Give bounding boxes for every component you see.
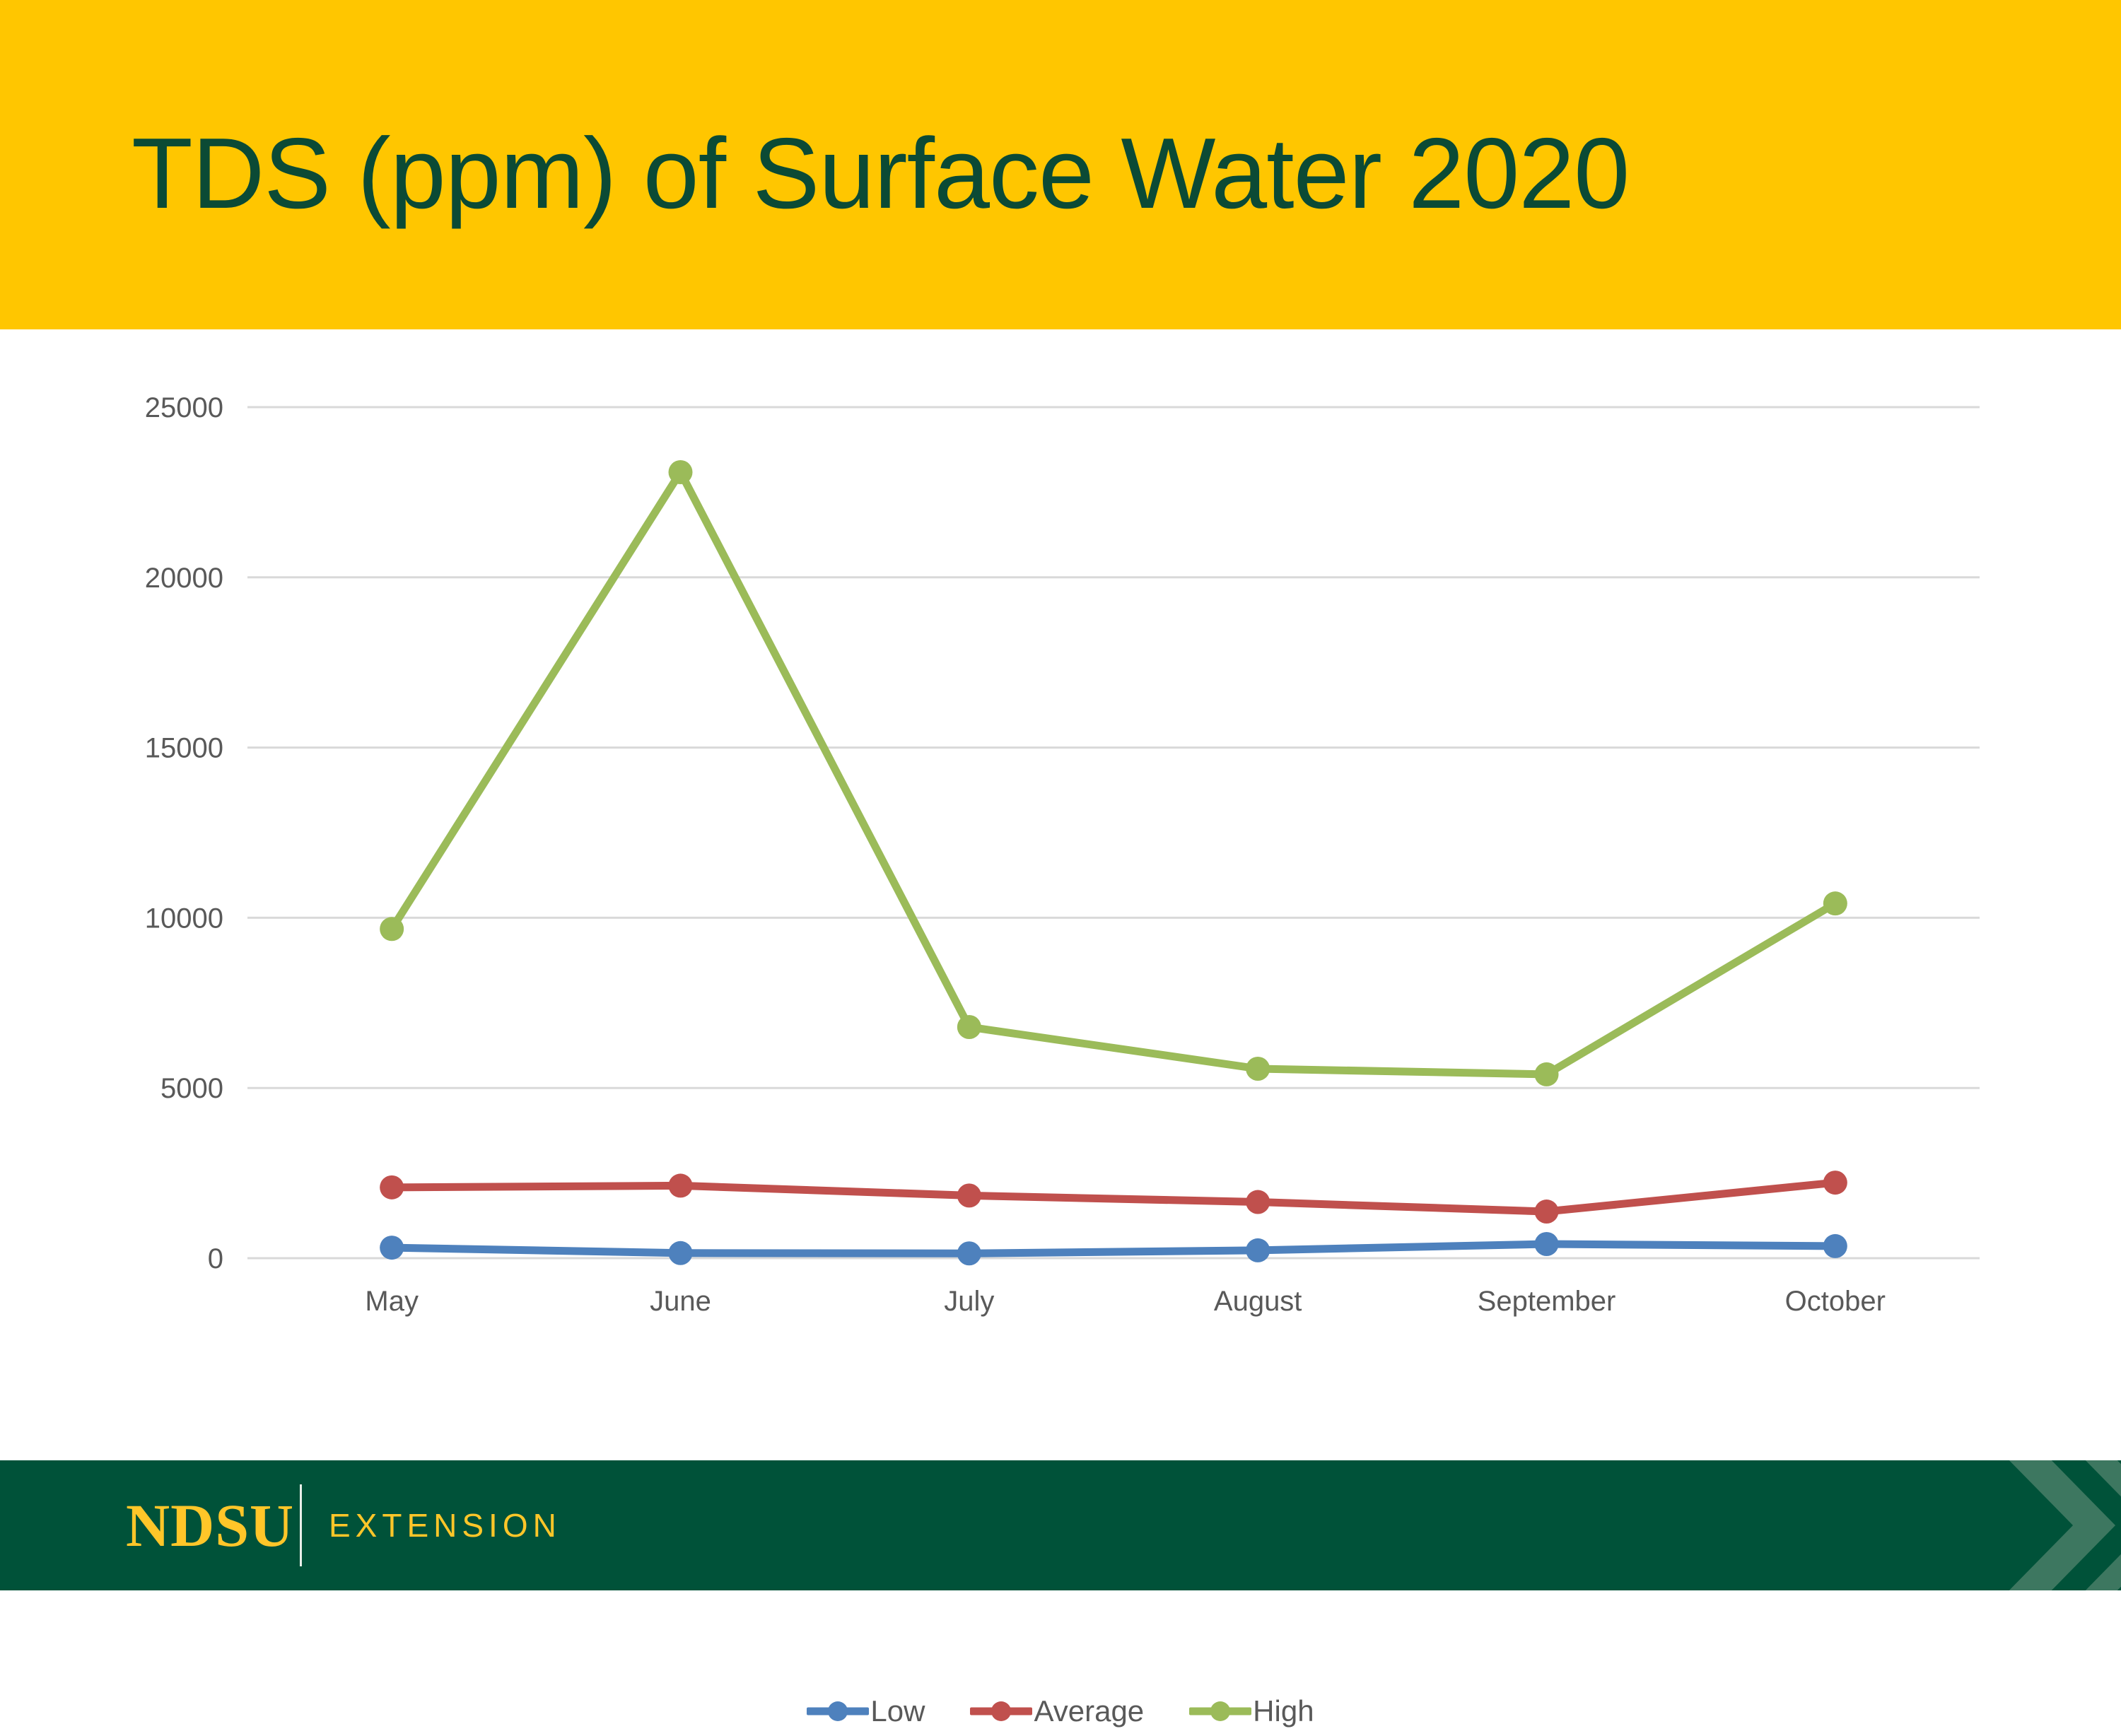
data-point-marker	[669, 1173, 693, 1197]
data-point-marker	[380, 1175, 404, 1200]
data-point-marker	[380, 917, 404, 941]
x-axis-tick-labels: MayJuneJulyAugustSeptemberOctober	[365, 1286, 1886, 1317]
x-axis-tick-label: September	[1478, 1286, 1616, 1317]
data-point-marker	[380, 1236, 404, 1260]
x-axis-tick-label: June	[650, 1286, 711, 1317]
gridlines	[247, 407, 1980, 1258]
x-axis-tick-label: July	[944, 1286, 994, 1317]
data-point-marker	[1535, 1062, 1559, 1086]
legend-marker-icon	[970, 1701, 1032, 1721]
extension-label: EXTENSION	[329, 1509, 561, 1542]
legend-item-high[interactable]: High	[1189, 1694, 1314, 1728]
page-title: TDS (ppm) of Surface Water 2020	[132, 124, 1629, 224]
series-line-average	[392, 1183, 1835, 1212]
y-axis-tick-label: 20000	[145, 563, 223, 594]
legend-item-low[interactable]: Low	[807, 1694, 925, 1728]
line-chart: 0500010000150002000025000 MayJuneJulyAug…	[0, 329, 2121, 1460]
x-axis-tick-label: May	[365, 1286, 419, 1317]
data-point-marker	[669, 460, 693, 484]
legend-item-label: Average	[1034, 1694, 1144, 1728]
y-axis-tick-labels: 0500010000150002000025000	[145, 392, 223, 1274]
data-point-marker	[1823, 1171, 1847, 1195]
data-point-marker	[1246, 1238, 1270, 1262]
data-point-marker	[957, 1241, 981, 1265]
data-point-marker	[1535, 1232, 1559, 1256]
title-banner: TDS (ppm) of Surface Water 2020	[0, 0, 2121, 329]
legend-item-label: Low	[870, 1694, 925, 1728]
chart-legend: LowAverageHigh	[0, 1687, 2121, 1736]
legend-item-label: High	[1253, 1694, 1314, 1728]
data-point-marker	[957, 1183, 981, 1207]
y-axis-tick-label: 5000	[160, 1073, 223, 1104]
x-axis-tick-label: August	[1214, 1286, 1302, 1317]
data-series	[380, 460, 1847, 1265]
data-point-marker	[669, 1241, 693, 1265]
data-point-marker	[1823, 891, 1847, 915]
y-axis-tick-label: 25000	[145, 392, 223, 423]
data-point-marker	[1246, 1057, 1270, 1081]
legend-marker-icon	[1189, 1701, 1251, 1721]
legend-item-average[interactable]: Average	[970, 1694, 1144, 1728]
data-point-marker	[1246, 1190, 1270, 1214]
legend-marker-icon	[807, 1701, 869, 1721]
ndsu-logo: NDSU	[126, 1495, 294, 1556]
series-line-high	[392, 472, 1835, 1074]
chevron-decoration	[1866, 1460, 2121, 1590]
data-point-marker	[1535, 1200, 1559, 1224]
chart-container: 0500010000150002000025000 MayJuneJulyAug…	[0, 329, 2121, 1460]
data-point-marker	[957, 1015, 981, 1039]
y-axis-tick-label: 15000	[145, 733, 223, 764]
data-point-marker	[1823, 1234, 1847, 1258]
series-line-low	[392, 1244, 1835, 1253]
footer-divider	[300, 1484, 302, 1566]
x-axis-tick-label: October	[1785, 1286, 1886, 1317]
y-axis-tick-label: 10000	[145, 903, 223, 934]
footer-bar: NDSU EXTENSION	[0, 1460, 2121, 1590]
y-axis-tick-label: 0	[208, 1243, 223, 1274]
